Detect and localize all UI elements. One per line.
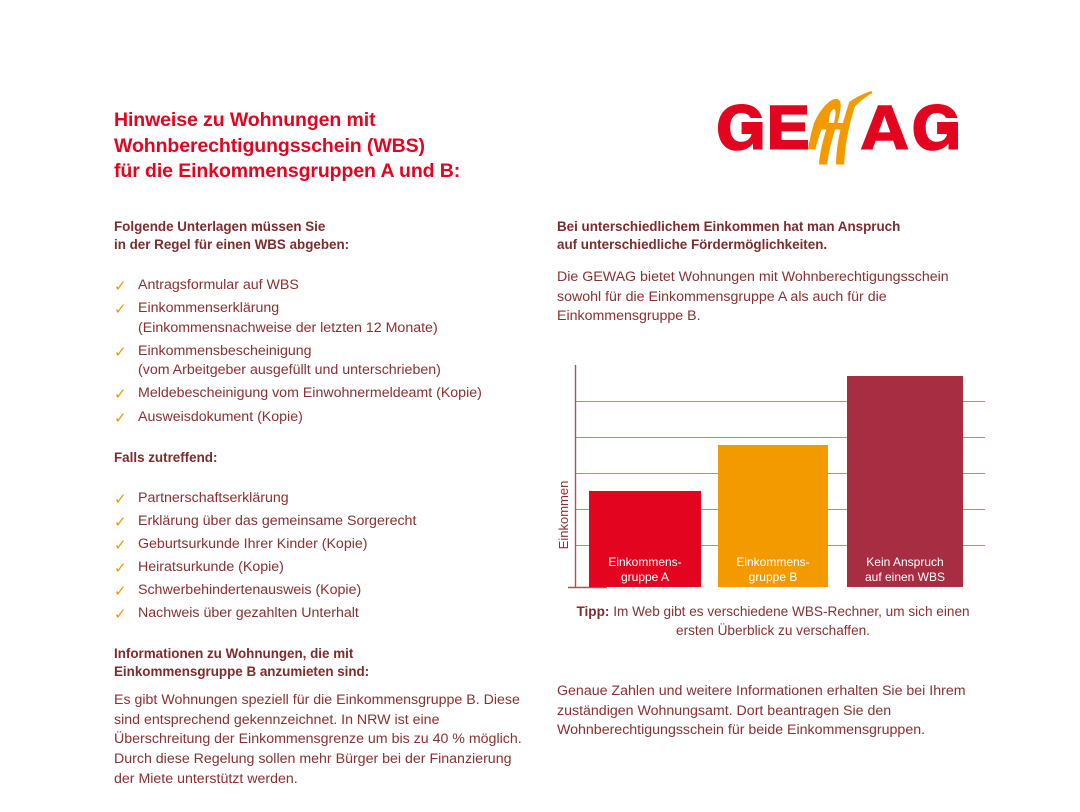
logo-letter-a <box>861 105 909 149</box>
conditional-heading-line-1: Falls zutreffend: <box>114 449 534 467</box>
tip-label: Tipp: <box>576 604 609 619</box>
bar-label-a-line2: gruppe A <box>621 570 669 584</box>
list-item-label: Geburtsurkunde Ihrer Kinder (Kopie) <box>138 536 367 552</box>
list-item: ✓ Heiratsurkunde (Kopie) <box>114 558 534 578</box>
list-item-label: Erklärung über das gemeinsame Sorgerecht <box>138 513 416 529</box>
check-icon: ✓ <box>114 490 127 510</box>
y-axis-label: Einkommen <box>557 481 571 550</box>
logo-letter-g1 <box>718 104 763 151</box>
bar-label-b-line2: gruppe B <box>749 570 798 584</box>
list-item: ✓ Einkommenserklärung (Einkommensnachwei… <box>114 299 534 338</box>
income-heading-line-1: Bei unterschiedlichem Einkommen hat man … <box>557 218 987 236</box>
bar-label-b-line1: Einkommens- <box>736 555 809 569</box>
info-heading: Informationen zu Wohnungen, die mit Eink… <box>114 645 534 681</box>
logo-letter-w <box>808 99 857 165</box>
info-heading-line-1: Informationen zu Wohnungen, die mit <box>114 645 534 663</box>
documents-heading-line-2: in der Regel für einen WBS abgeben: <box>114 236 534 254</box>
list-item: ✓ Einkommensbescheinigung (vom Arbeitgeb… <box>114 342 534 381</box>
conditional-list: ✓ Partnerschaftserklärung ✓ Erklärung üb… <box>114 489 534 624</box>
closing-body: Genaue Zahlen und weitere Informationen … <box>557 682 989 741</box>
conditional-heading: Falls zutreffend: <box>114 449 534 467</box>
list-item: ✓ Meldebescheinigung vom Einwohnermeldea… <box>114 384 534 404</box>
income-heading: Bei unterschiedlichem Einkommen hat man … <box>557 218 987 254</box>
page-title-line-3: für die Einkommensgruppen A und B: <box>114 159 544 185</box>
check-icon: ✓ <box>114 536 127 556</box>
bar-label-c-line2: auf einen WBS <box>865 570 945 584</box>
check-icon: ✓ <box>114 300 127 320</box>
right-column: Bei unterschiedlichem Einkommen hat man … <box>557 218 987 327</box>
check-icon: ✓ <box>114 582 127 602</box>
check-icon: ✓ <box>114 605 127 625</box>
list-item-label: Meldebescheinigung vom Einwohnermeldeamt… <box>138 385 482 401</box>
logo-letter-w-flick <box>850 91 873 107</box>
list-item-label: Einkommenserklärung <box>138 300 279 316</box>
page-title-line-1: Hinweise zu Wohnungen mit <box>114 108 544 134</box>
list-item-label: Nachweis über gezahlten Unterhalt <box>138 605 359 621</box>
list-item: ✓ Nachweis über gezahlten Unterhalt <box>114 604 534 624</box>
tip-text: Tipp: Im Web gibt es verschiedene WBS-Re… <box>557 602 989 640</box>
list-item: ✓ Ausweisdokument (Kopie) <box>114 408 534 428</box>
check-icon: ✓ <box>114 513 127 533</box>
gewag-logo <box>718 86 980 170</box>
list-item-label: Heiratsurkunde (Kopie) <box>138 559 284 575</box>
tip-body: Im Web gibt es verschiedene WBS-Rechner,… <box>613 604 969 638</box>
list-item-label: Schwerbehindertenausweis (Kopie) <box>138 582 361 598</box>
list-item: ✓ Schwerbehindertenausweis (Kopie) <box>114 581 534 601</box>
check-icon: ✓ <box>114 409 127 429</box>
list-item-label: Partnerschaftserklärung <box>138 490 289 506</box>
income-bar-chart: Einkommens- gruppe A Einkommens- gruppe … <box>557 360 989 596</box>
bar-label-c-line1: Kein Anspruch <box>866 555 943 569</box>
left-column: Folgende Unterlagen müssen Sie in der Re… <box>114 218 534 789</box>
list-item: ✓ Antragsformular auf WBS <box>114 276 534 296</box>
list-item-label: Einkommensbescheinigung <box>138 343 312 359</box>
page-title: Hinweise zu Wohnungen mit Wohnberechtigu… <box>114 108 544 185</box>
check-icon: ✓ <box>114 559 127 579</box>
check-icon: ✓ <box>114 277 127 297</box>
list-item-label: Ausweisdokument (Kopie) <box>138 409 303 425</box>
list-item: ✓ Partnerschaftserklärung <box>114 489 534 509</box>
list-item: ✓ Geburtsurkunde Ihrer Kinder (Kopie) <box>114 535 534 555</box>
logo-letter-e <box>770 105 808 149</box>
income-body: Die GEWAG bietet Wohnungen mit Wohnberec… <box>557 268 987 327</box>
logo-letter-g2 <box>914 104 959 151</box>
income-heading-line-2: auf unterschiedliche Fördermöglichkeiten… <box>557 236 987 254</box>
info-heading-line-2: Einkommensgruppe B anzumieten sind: <box>114 663 534 681</box>
documents-list: ✓ Antragsformular auf WBS ✓ Einkommenser… <box>114 276 534 427</box>
list-item-sublabel: (Einkommensnachweise der letzten 12 Mona… <box>138 319 534 339</box>
info-body: Es gibt Wohnungen speziell für die Einko… <box>114 691 534 789</box>
list-item: ✓ Erklärung über das gemeinsame Sorgerec… <box>114 512 534 532</box>
page-title-line-2: Wohnberechtigungsschein (WBS) <box>114 134 544 160</box>
list-item-label: Antragsformular auf WBS <box>138 277 299 293</box>
documents-heading-line-1: Folgende Unterlagen müssen Sie <box>114 218 534 236</box>
check-icon: ✓ <box>114 343 127 363</box>
bar-label-a-line1: Einkommens- <box>608 555 681 569</box>
poster-page: Hinweise zu Wohnungen mit Wohnberechtigu… <box>0 0 1080 812</box>
check-icon: ✓ <box>114 385 127 405</box>
documents-heading: Folgende Unterlagen müssen Sie in der Re… <box>114 218 534 254</box>
list-item-sublabel: (vom Arbeitgeber ausgefüllt und untersch… <box>138 361 534 381</box>
